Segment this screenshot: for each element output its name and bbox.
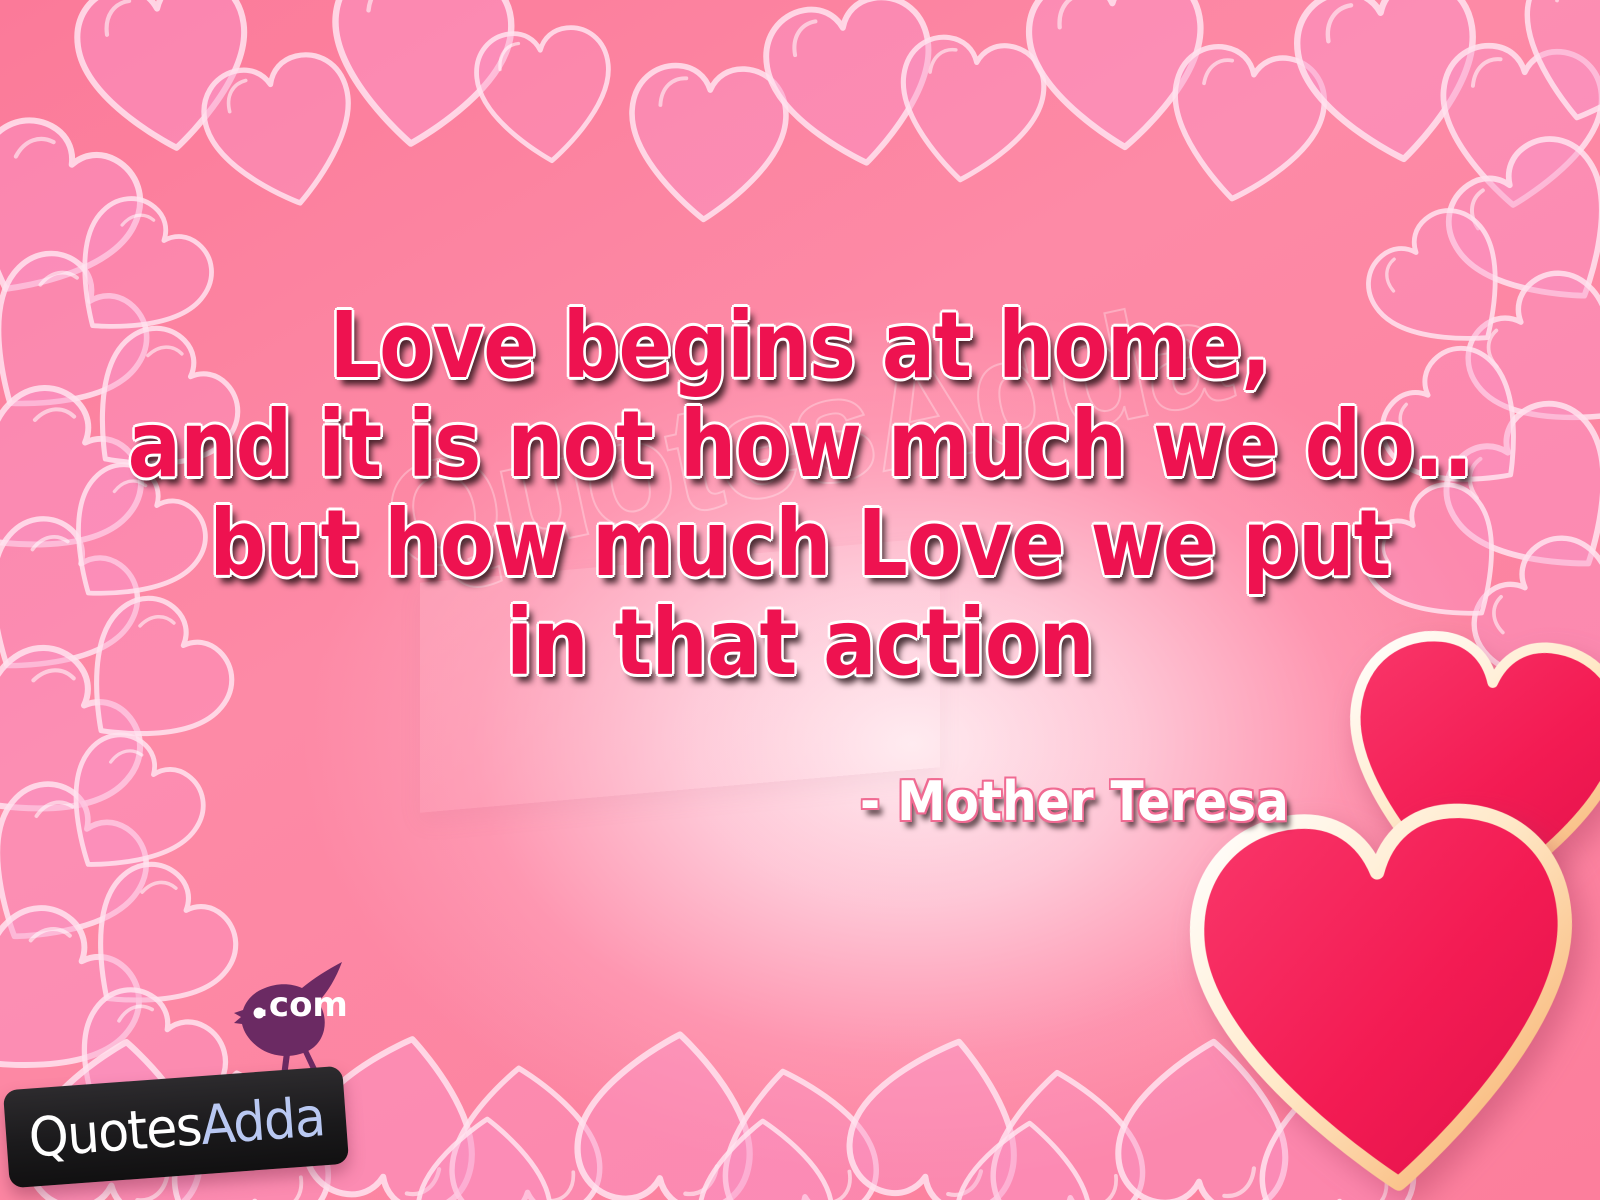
logo-text-quotes: Quotes: [26, 1094, 202, 1169]
quote-text: Love begins at home,and it is not how mu…: [112, 296, 1488, 692]
quote-image-canvas: QuotesAdda Love begins at home,and it is…: [0, 0, 1600, 1200]
quote-line-4: in that action: [112, 593, 1488, 692]
quote-line-2: and it is not how much we do..: [112, 395, 1488, 494]
quote-line-3: but how much Love we put: [112, 494, 1488, 593]
bird-dotcom-label: .com: [256, 985, 348, 1025]
logo-text-adda: Adda: [198, 1085, 326, 1157]
quote-line-1: Love begins at home,: [112, 296, 1488, 395]
quote-author: - Mother Teresa: [860, 770, 1289, 833]
